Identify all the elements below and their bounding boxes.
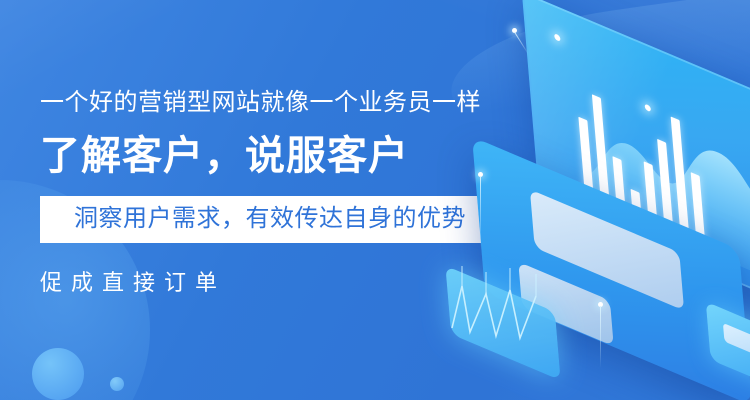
highlight-box-text: 洞察用户需求，有效传达自身的优势 [66,204,474,234]
connector-wire [600,306,601,368]
marketing-banner: 一个好的营销型网站就像一个业务员一样 了解客户，说服客户 洞察用户需求，有效传达… [0,0,750,400]
decorative-circle-small [110,377,124,391]
illustration [430,0,750,400]
decorative-circle-large [32,348,84,400]
platform-zigzag-glow [440,250,570,360]
connector-wire [480,176,481,248]
platform-chip [723,323,750,365]
